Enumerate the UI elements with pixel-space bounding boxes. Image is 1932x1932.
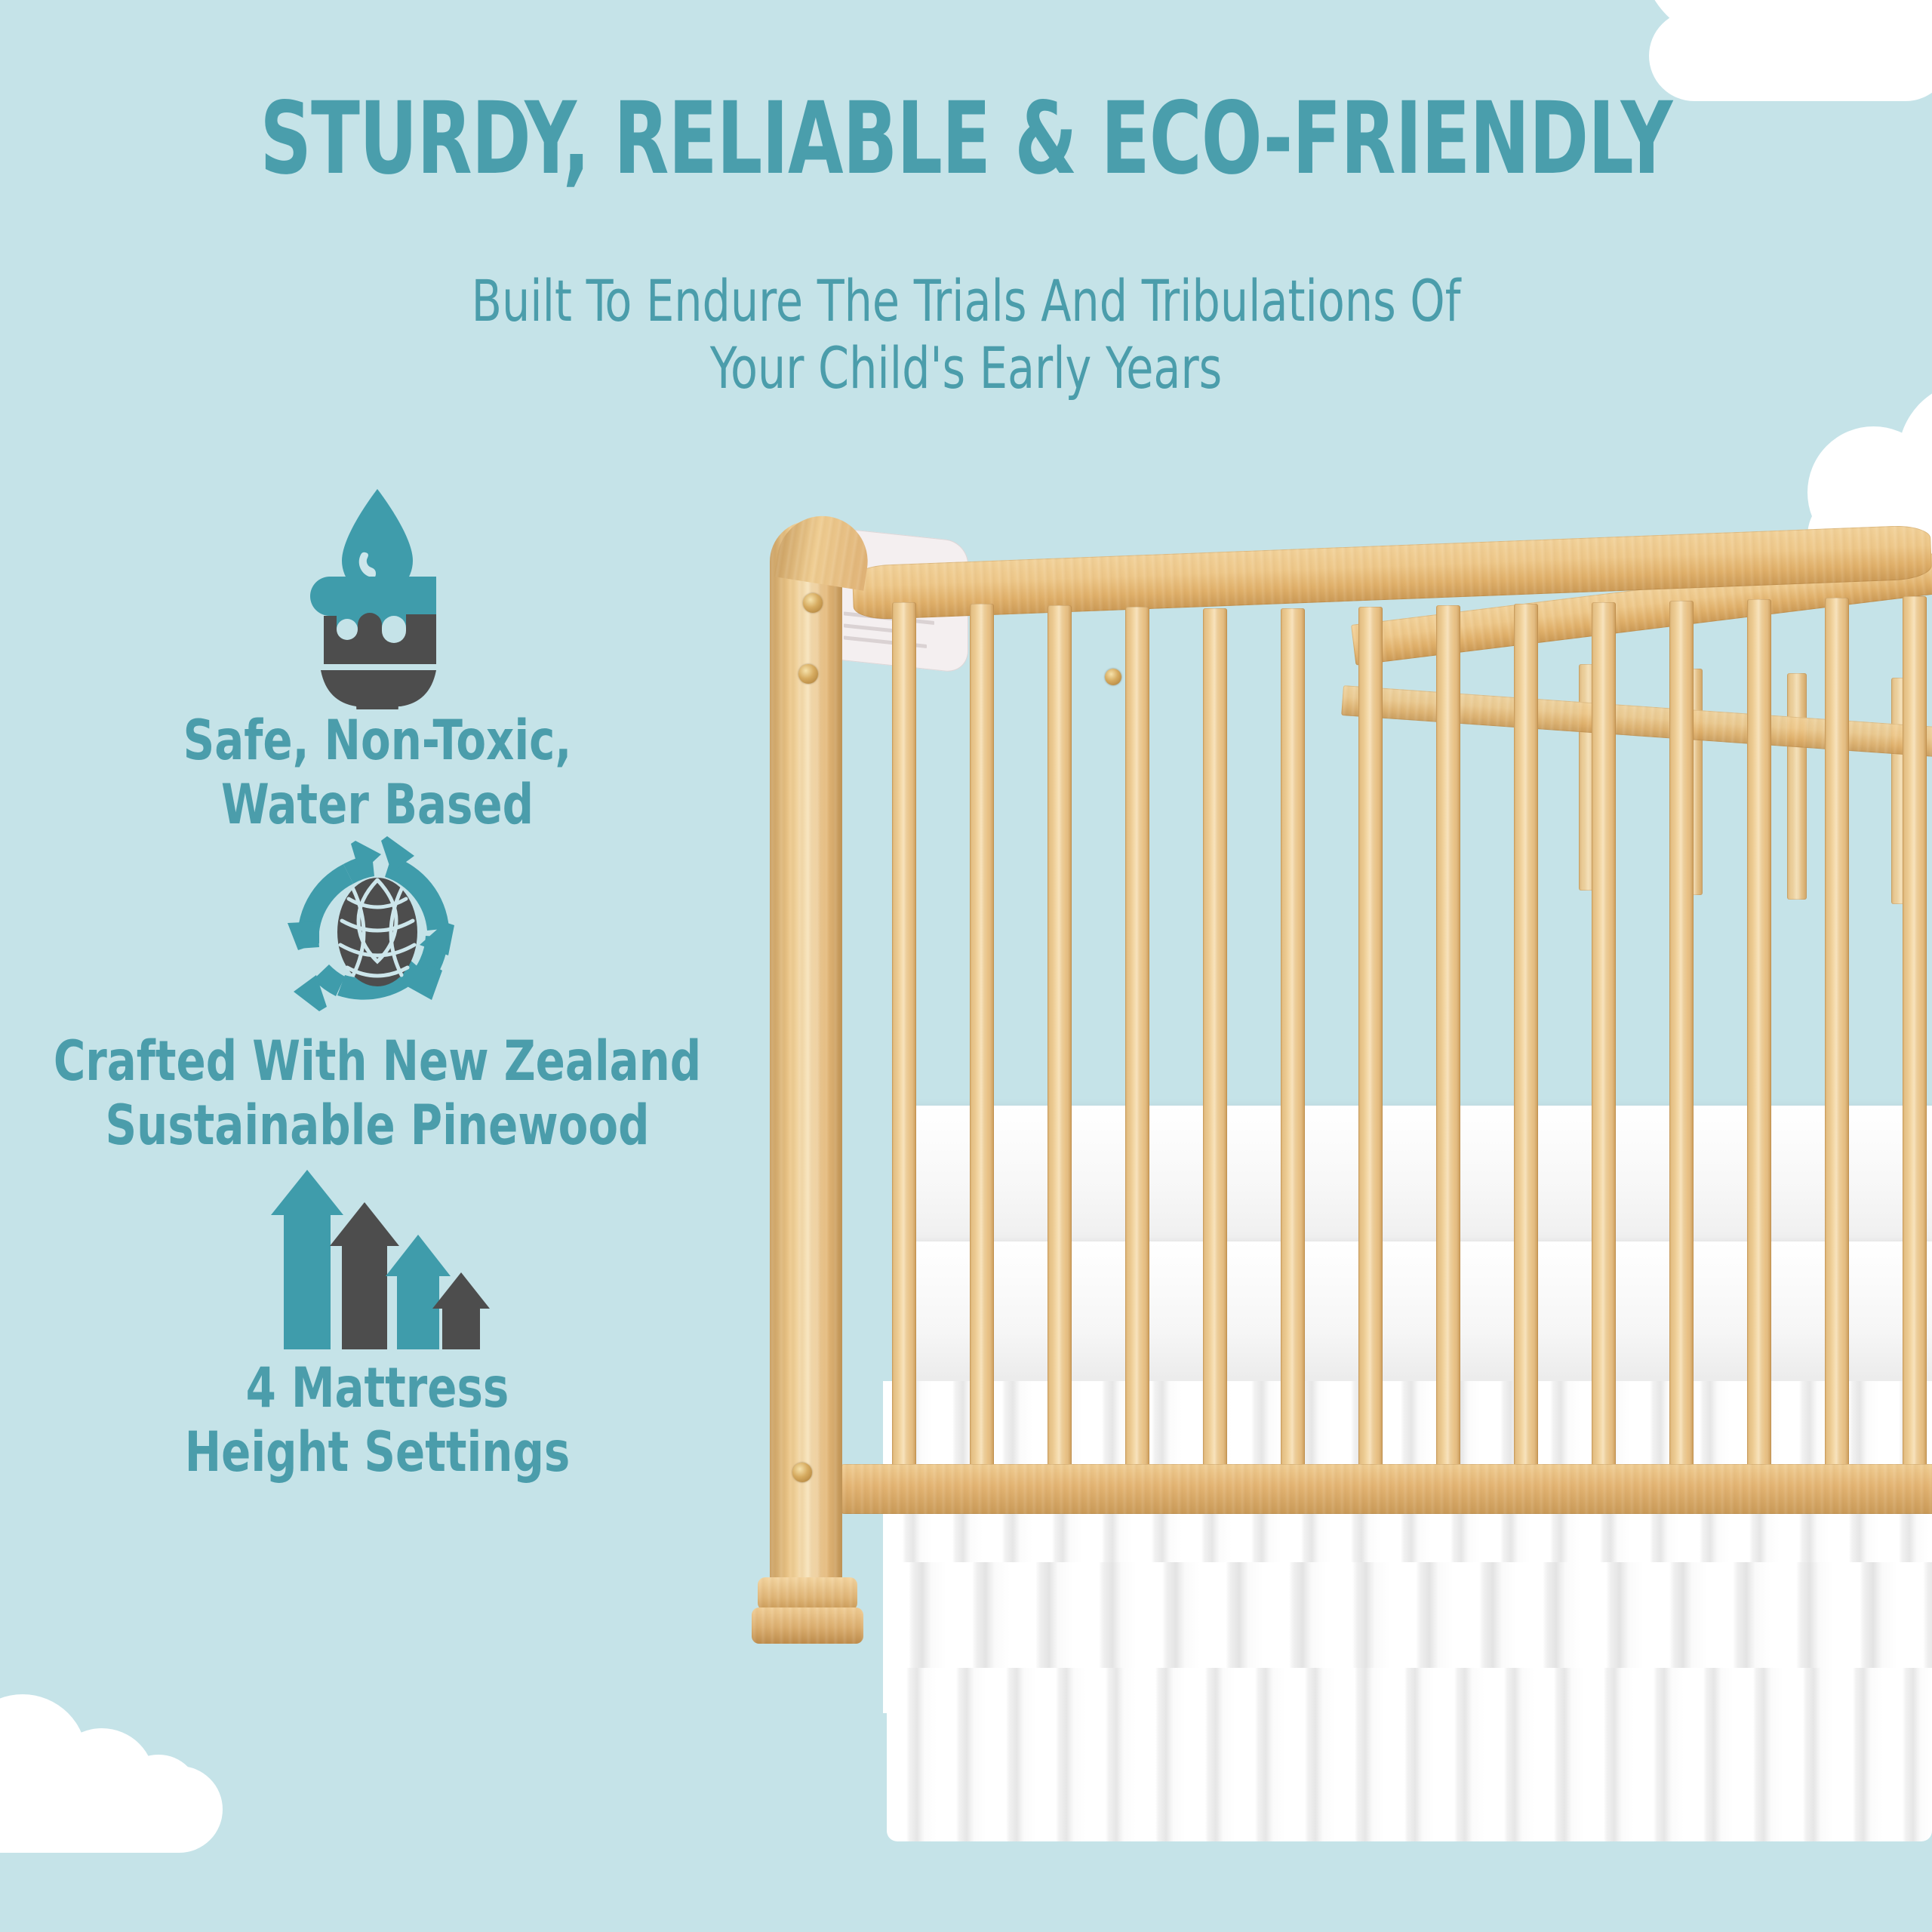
- recycle-pinecone-icon: [274, 823, 481, 1030]
- feature-2-label-line-1: Crafted With New Zealand: [45, 1030, 709, 1094]
- crib-screw: [803, 593, 823, 613]
- crib-slat: [970, 604, 994, 1479]
- crib-slat: [1436, 605, 1460, 1481]
- cloud-bottom-left-decoration: [0, 1694, 245, 1868]
- crib-slat: [1358, 607, 1383, 1482]
- cloud-top-right-decoration: [1649, 0, 1932, 101]
- product-photo-crib: [770, 521, 1932, 1849]
- feature-2-label-line-2: Sustainable Pinewood: [45, 1094, 709, 1158]
- feature-1-label-line-1: Safe, Non-Toxic,: [45, 709, 709, 774]
- crib-foot-base-lower: [752, 1607, 863, 1644]
- crib-headboard-post-cap: [774, 509, 875, 591]
- page-title: STURDY, RELIABLE & ECO-FRIENDLY: [193, 89, 1739, 189]
- crib-bottom-rail: [841, 1464, 1932, 1514]
- feature-list: Safe, Non-Toxic, Water Based: [0, 483, 755, 1447]
- feature-3-label-line-1: 4 Mattress: [45, 1357, 709, 1421]
- crib-slat: [1669, 601, 1694, 1476]
- feature-2-label: Crafted With New Zealand Sustainable Pin…: [45, 1030, 709, 1158]
- crib-slat: [1903, 596, 1927, 1472]
- crib-slat: [892, 602, 916, 1478]
- subtitle-line-2: Your Child's Early Years: [135, 335, 1797, 402]
- feature-3-label: 4 Mattress Height Settings: [45, 1357, 709, 1484]
- crib-screw: [792, 1463, 812, 1482]
- crib-slat: [1048, 605, 1072, 1481]
- crib-slat: [1825, 598, 1849, 1473]
- crib-screw: [1105, 669, 1121, 685]
- crib-screw: [798, 664, 818, 684]
- crib-slat: [1514, 604, 1538, 1479]
- infographic-canvas: STURDY, RELIABLE & ECO-FRIENDLY Built To…: [0, 0, 1932, 1932]
- feature-item-sustainable-pinewood: Crafted With New Zealand Sustainable Pin…: [0, 823, 755, 1124]
- feature-item-non-toxic-paint: Safe, Non-Toxic, Water Based: [0, 483, 755, 792]
- crib-slat: [1203, 608, 1227, 1484]
- feature-item-mattress-heights: 4 Mattress Height Settings: [0, 1161, 755, 1447]
- crib-slat: [1747, 599, 1771, 1475]
- four-arrows-height-icon: [264, 1161, 491, 1357]
- crib-foot-base-upper: [758, 1577, 857, 1611]
- paint-brush-water-drop-icon: [283, 483, 472, 709]
- feature-1-label: Safe, Non-Toxic, Water Based: [45, 709, 709, 837]
- crib-bed-skirt-bottom-ruffle: [887, 1668, 1932, 1841]
- page-subtitle: Built To Endure The Trials And Tribulati…: [135, 268, 1797, 402]
- crib-slat: [1125, 607, 1149, 1482]
- crib-slat: [1281, 608, 1305, 1484]
- subtitle-line-1: Built To Endure The Trials And Tribulati…: [135, 268, 1797, 335]
- crib-far-slat: [1787, 673, 1807, 900]
- crib-slat: [1592, 602, 1616, 1478]
- feature-3-label-line-2: Height Settings: [45, 1421, 709, 1485]
